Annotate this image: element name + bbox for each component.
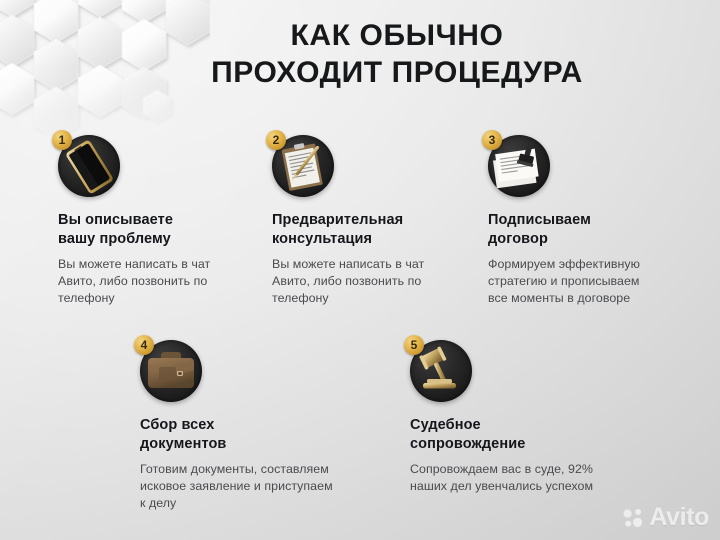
step-5-description: Сопровождаем вас в суде, 92% наших дел у… (410, 461, 662, 496)
steps-row-top: 1 Вы описываете вашу проблему Вы можете … (0, 135, 720, 325)
step-1-title: Вы описываете вашу проблему (58, 211, 263, 249)
step-3-title: Подписываем договор (488, 211, 693, 249)
step-5-number-badge: 5 (404, 335, 424, 355)
step-card-2: 2 Предварительная консультация Вы можете… (272, 135, 477, 308)
page-title-line-1: КАК ОБЫЧНО (88, 18, 706, 55)
step-4-description: Готовим документы, составляем исковое за… (140, 461, 392, 513)
avito-watermark-text: Avito (649, 505, 709, 530)
step-4-number-badge: 4 (134, 335, 154, 355)
poster-canvas: КАК ОБЫЧНО ПРОХОДИТ ПРОЦЕДУРА (0, 0, 720, 540)
avito-watermark: Avito (621, 505, 709, 530)
step-1-description: Вы можете написать в чат Авито, либо поз… (58, 256, 263, 308)
step-card-3: 3 Подписываем договор Формируем эффектив… (488, 135, 693, 308)
step-1-icon-wrap: 1 (58, 135, 120, 197)
step-5-icon-wrap: 5 (410, 340, 472, 402)
step-2-title: Предварительная консультация (272, 211, 477, 249)
step-card-5: 5 Судебное сопровождение Сопровождаем ва… (410, 340, 662, 495)
page-title: КАК ОБЫЧНО ПРОХОДИТ ПРОЦЕДУРА (0, 18, 720, 91)
step-2-icon-wrap: 2 (272, 135, 334, 197)
steps-row-bottom: 4 Сбор всех документов Готовим документы… (0, 340, 720, 525)
step-4-title: Сбор всех документов (140, 416, 392, 454)
step-card-1: 1 Вы описываете вашу проблему Вы можете … (58, 135, 263, 308)
step-4-icon-wrap: 4 (140, 340, 202, 402)
step-card-4: 4 Сбор всех документов Готовим документы… (140, 340, 392, 513)
step-3-number-badge: 3 (482, 130, 502, 150)
step-2-description: Вы можете написать в чат Авито, либо поз… (272, 256, 477, 308)
step-5-title: Судебное сопровождение (410, 416, 662, 454)
step-3-description: Формируем эффективную стратегию и пропис… (488, 256, 693, 308)
step-3-icon-wrap: 3 (488, 135, 550, 197)
step-1-number-badge: 1 (52, 130, 72, 150)
avito-dots-icon (621, 506, 645, 530)
step-2-number-badge: 2 (266, 130, 286, 150)
page-title-line-2: ПРОХОДИТ ПРОЦЕДУРА (88, 55, 706, 92)
